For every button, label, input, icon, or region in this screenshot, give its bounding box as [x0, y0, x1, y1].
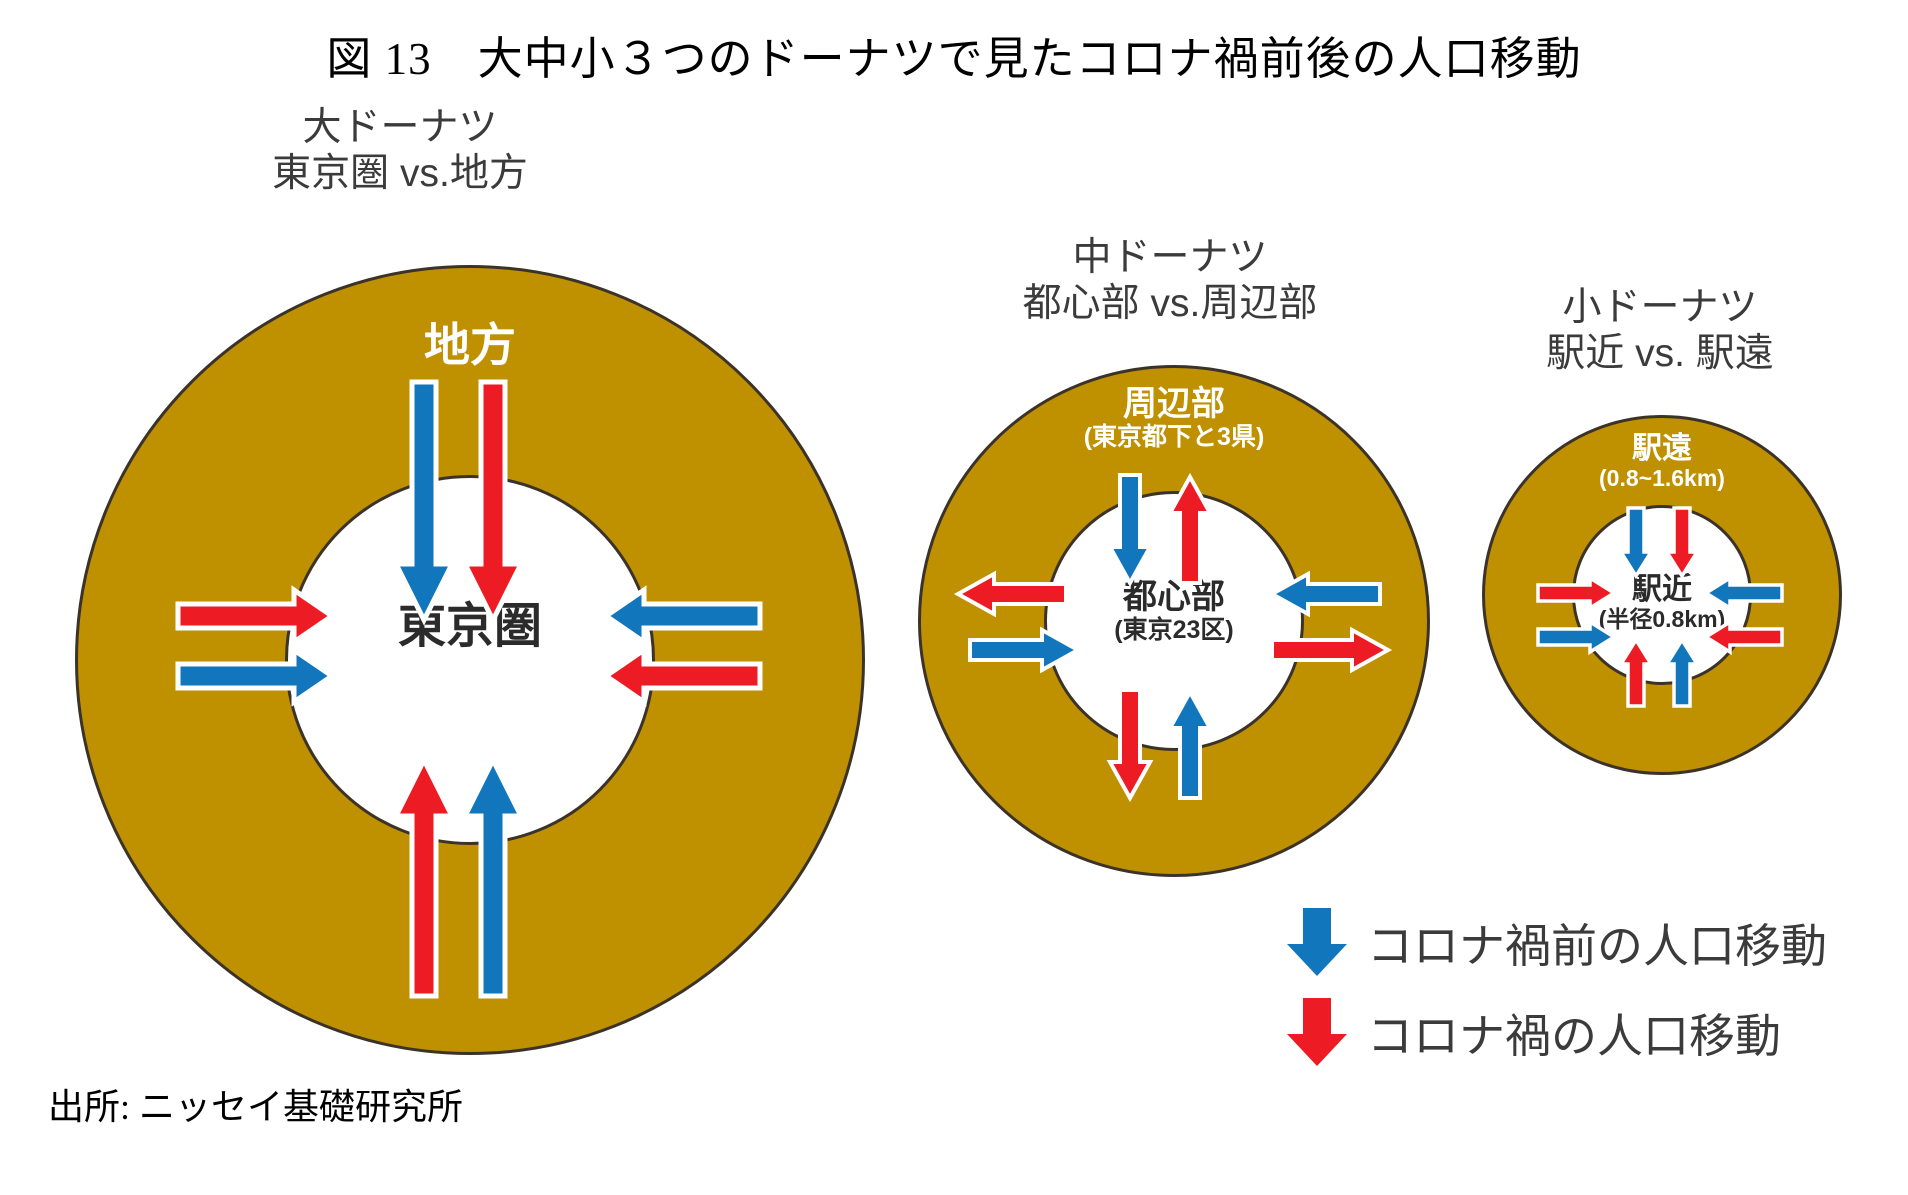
medium-arrow-bottom-left-red-down	[1108, 690, 1152, 800]
legend: コロナ禍前の人口移動 コロナ禍の人口移動	[1283, 905, 1827, 1085]
large-arrow-bottom-left-red-up	[394, 758, 454, 998]
medium-arrow-right-upper-blue-left	[1270, 572, 1382, 616]
large-donut-caption: 大ドーナツ 東京圏 vs.地方	[120, 105, 680, 197]
small-donut-caption-line1: 小ドーナツ	[1460, 285, 1860, 331]
medium-arrow-left-lower-blue-right	[968, 628, 1080, 672]
small-donut-ring-label: 駅遠 (0.8~1.6km)	[1542, 432, 1782, 491]
small-arrow-right-upper-blue-left	[1704, 576, 1784, 610]
small-arrow-left-lower-blue-right	[1536, 620, 1616, 654]
small-arrow-bottom-left-red-up	[1619, 638, 1653, 708]
large-donut-ring-label: 地方	[330, 320, 610, 372]
figure-canvas: 図 13 大中小３つのドーナツで見たコロナ禍前後の人口移動 大ドーナツ 東京圏 …	[0, 0, 1908, 1195]
medium-arrow-bottom-right-blue-up	[1168, 690, 1212, 800]
red-down-arrow-icon	[1283, 998, 1351, 1068]
legend-item-covid: コロナ禍の人口移動	[1283, 995, 1827, 1071]
large-arrow-left-lower-blue-right	[176, 648, 334, 704]
legend-item-pre-covid: コロナ禍前の人口移動	[1283, 905, 1827, 981]
large-arrow-right-lower-red-left	[604, 648, 762, 704]
legend-label-covid: コロナ禍の人口移動	[1367, 1000, 1781, 1066]
small-donut-ring-sublabel: (0.8~1.6km)	[1542, 466, 1782, 492]
medium-donut-ring-label: 周辺部 (東京都下と3県)	[1024, 385, 1324, 451]
medium-donut-ring-sublabel: (東京都下と3県)	[1024, 423, 1324, 451]
large-donut-caption-line2: 東京圏 vs.地方	[120, 151, 680, 197]
medium-donut-ring-label-text: 周辺部	[1123, 385, 1225, 423]
small-arrow-right-lower-red-left	[1704, 620, 1784, 654]
medium-donut-caption-line2: 都心部 vs.周辺部	[930, 281, 1410, 327]
medium-donut-caption-line1: 中ドーナツ	[930, 235, 1410, 281]
large-arrow-top-right-red-down	[463, 382, 523, 622]
small-donut-ring-label-text: 駅遠	[1632, 432, 1692, 465]
large-donut-ring-label-text: 地方	[424, 319, 516, 371]
legend-label-pre-covid: コロナ禍前の人口移動	[1367, 910, 1827, 976]
small-arrow-top-right-red-down	[1665, 508, 1699, 578]
small-arrow-left-upper-red-right	[1536, 576, 1616, 610]
medium-arrow-right-lower-red-right	[1270, 628, 1390, 672]
medium-arrow-left-upper-red-left	[956, 572, 1068, 616]
medium-donut-caption: 中ドーナツ 都心部 vs.周辺部	[930, 235, 1410, 327]
blue-down-arrow-icon	[1283, 908, 1351, 978]
large-arrow-left-upper-red-right	[176, 588, 334, 644]
large-arrow-top-left-blue-down	[394, 382, 454, 622]
large-arrow-bottom-right-blue-up	[463, 758, 523, 998]
medium-arrow-top-right-red-up	[1168, 475, 1212, 585]
small-arrow-bottom-right-blue-up	[1665, 638, 1699, 708]
source-note: 出所: ニッセイ基礎研究所	[48, 1078, 463, 1130]
large-arrow-right-upper-blue-left	[604, 588, 762, 644]
large-donut-caption-line1: 大ドーナツ	[120, 105, 680, 151]
small-donut-caption: 小ドーナツ 駅近 vs. 駅遠	[1460, 285, 1860, 377]
page-title: 図 13 大中小３つのドーナツで見たコロナ禍前後の人口移動	[0, 22, 1908, 87]
small-donut-caption-line2: 駅近 vs. 駅遠	[1460, 331, 1860, 377]
medium-arrow-top-left-blue-down	[1108, 475, 1152, 585]
small-arrow-top-left-blue-down	[1619, 508, 1653, 578]
